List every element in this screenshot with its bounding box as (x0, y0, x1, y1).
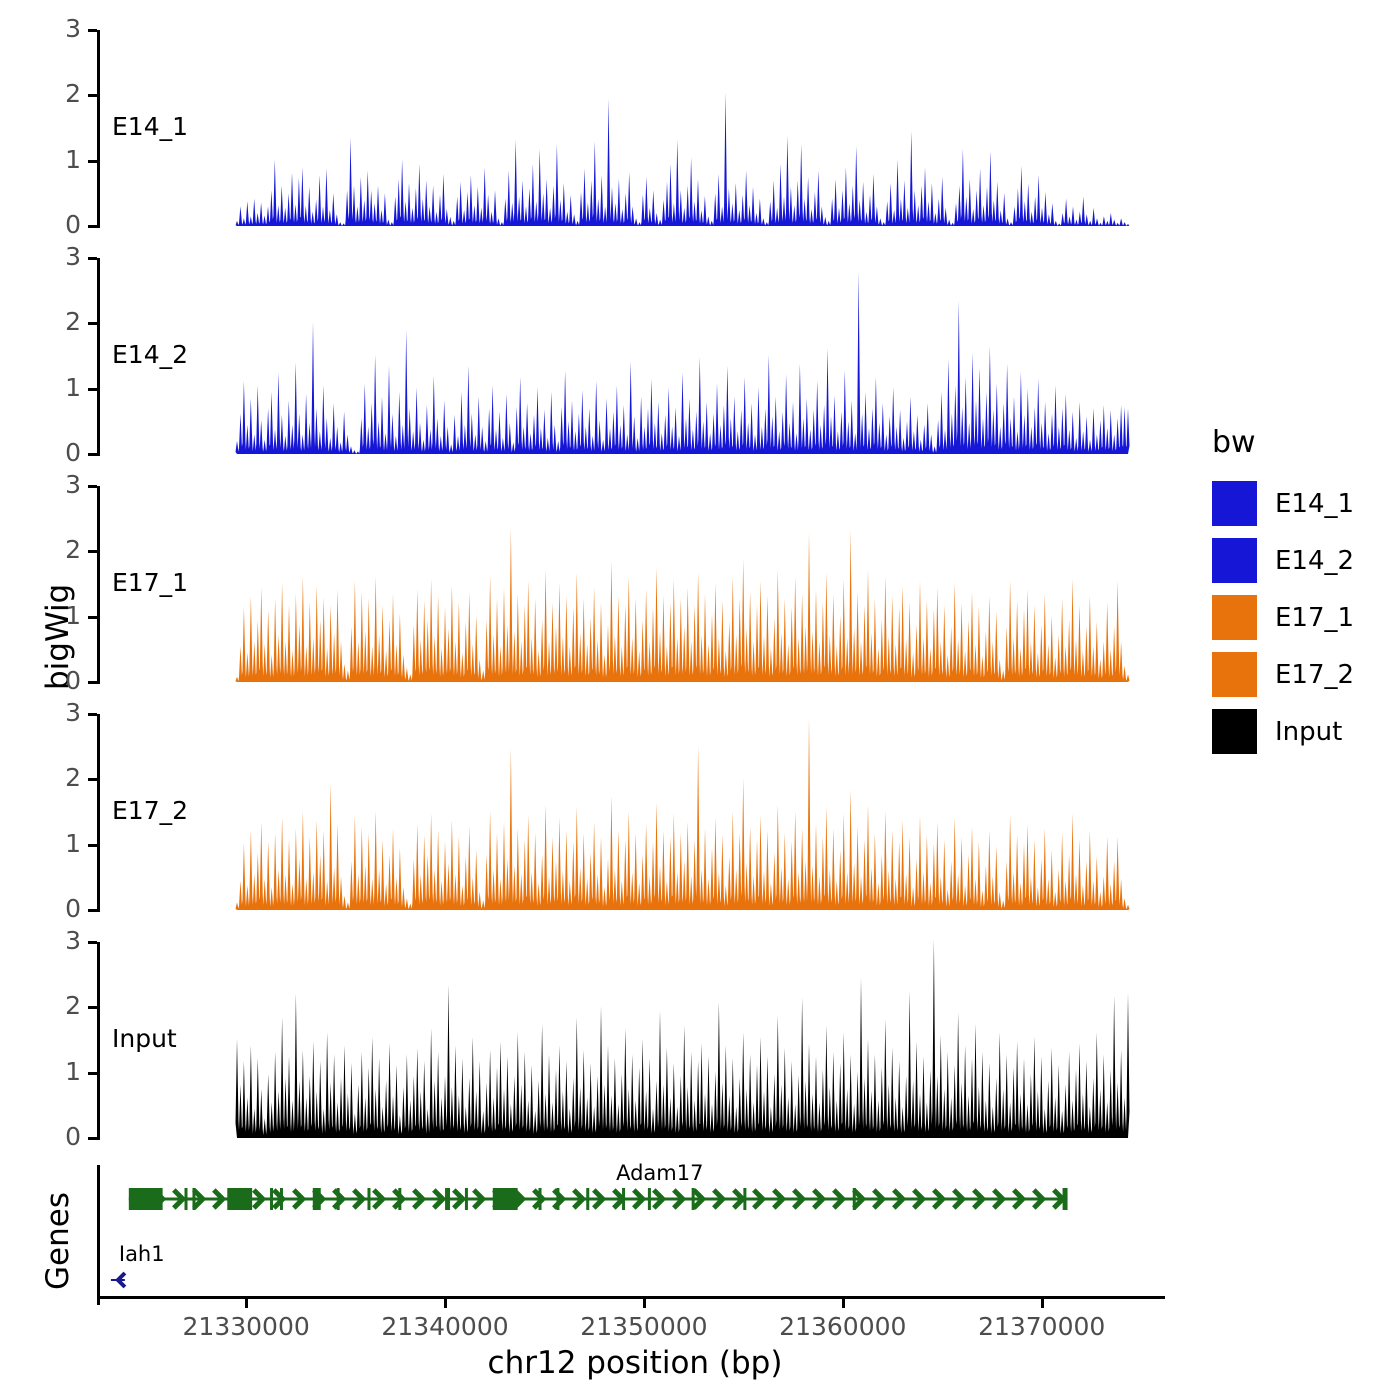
x-tick-label: 21360000 (779, 1312, 906, 1341)
legend-color-key (1212, 595, 1257, 640)
legend-label: E14_1 (1275, 489, 1354, 519)
legend-title: bw (1212, 425, 1256, 460)
gene-exon (648, 1188, 651, 1210)
legend-item-e17_1[interactable]: E17_1 (1212, 595, 1354, 640)
legend-label: E14_2 (1275, 546, 1354, 576)
legend-color-key (1212, 538, 1257, 583)
legend-label: E17_1 (1275, 603, 1354, 633)
x-axis-title: chr12 position (bp) (0, 1345, 1270, 1381)
x-tick-label: 21330000 (183, 1312, 310, 1341)
legend-label: Input (1275, 717, 1342, 747)
x-axis-line (97, 1296, 1165, 1299)
x-tick (444, 1299, 447, 1308)
legend-item-e17_2[interactable]: E17_2 (1212, 652, 1354, 697)
legend-item-e14_2[interactable]: E14_2 (1212, 538, 1354, 583)
x-tick-label: 21350000 (580, 1312, 707, 1341)
gene-exon (367, 1188, 370, 1210)
legend-item-input[interactable]: Input (1212, 709, 1342, 754)
x-tick (842, 1299, 845, 1308)
legend-color-key (1212, 481, 1257, 526)
gene-models (0, 0, 1400, 1400)
x-tick (643, 1299, 646, 1308)
legend-item-e14_1[interactable]: E14_1 (1212, 481, 1354, 526)
genome-browser-figure: bigWig Genes 0123E14_10123E14_20123E17_1… (0, 0, 1400, 1400)
x-tick (1041, 1299, 1044, 1308)
legend-label: E17_2 (1275, 660, 1354, 690)
x-tick-label: 21340000 (381, 1312, 508, 1341)
legend-color-key (1212, 709, 1257, 754)
legend-color-key (1212, 652, 1257, 697)
gene-exon (586, 1188, 589, 1210)
x-tick (245, 1299, 248, 1308)
x-tick-label: 21370000 (978, 1312, 1105, 1341)
